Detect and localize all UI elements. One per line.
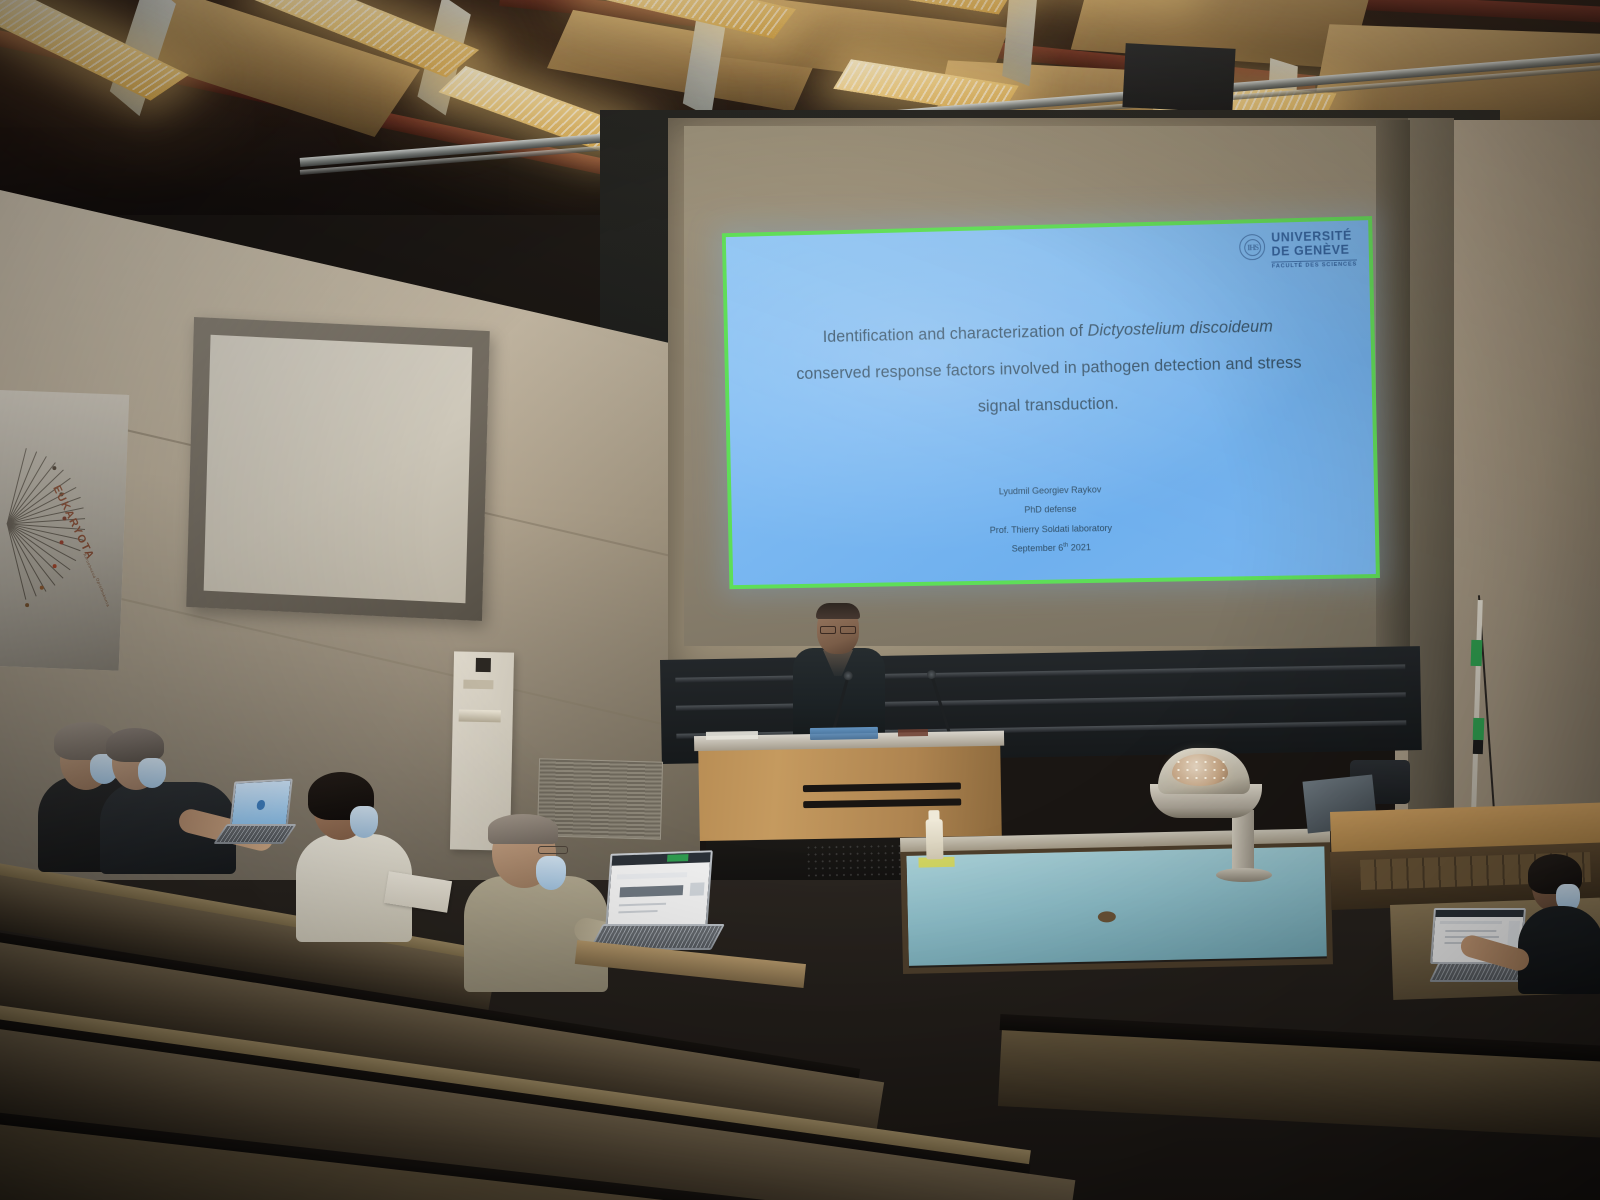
framed-notice-board	[186, 317, 490, 621]
slide-title: Identification and characterization of D…	[760, 307, 1338, 430]
slide-date-suffix: 2021	[1068, 542, 1091, 552]
screen-edge	[1376, 120, 1410, 678]
face-mask	[138, 758, 166, 788]
slide-canvas: UNIVERSITÉ DE GENÈVE FACULTÉ DES SCIENCE…	[726, 220, 1376, 585]
lecture-hall-photo: UNIVERSITÉ DE GENÈVE FACULTÉ DES SCIENCE…	[0, 0, 1600, 1200]
face-mask	[536, 856, 566, 890]
face-mask	[350, 806, 378, 838]
pole-green-marker-lower	[1473, 718, 1485, 740]
laptop-keyboard[interactable]	[213, 824, 296, 844]
slide-date-prefix: September 6	[1012, 543, 1064, 554]
unige-seal-icon	[1239, 234, 1265, 261]
unige-line2: DE GENÈVE	[1271, 243, 1349, 258]
notice-board-surface	[204, 335, 473, 603]
ceiling-projector	[1122, 43, 1235, 113]
glasses-icon	[538, 846, 568, 854]
glasses-icon	[820, 626, 856, 632]
pole-black-marker	[1473, 740, 1483, 754]
wall-column	[1408, 118, 1454, 908]
slide-title-species: Dictyostelium discoideum	[1087, 317, 1273, 339]
unige-faculty: FACULTÉ DES SCIENCES	[1272, 261, 1357, 269]
phylogenetic-tree-poster: EUKARYOTA Amoebozoa Opisthokonta	[0, 389, 129, 670]
speaker-person	[793, 604, 885, 746]
unige-logo: UNIVERSITÉ DE GENÈVE FACULTÉ DES SCIENCE…	[1239, 229, 1357, 270]
laptop-lid	[605, 850, 713, 930]
slide-subtitle: Lyudmil Georgiev Raykov PhD defense Prof…	[731, 475, 1375, 564]
slide-title-line3: signal transduction.	[978, 394, 1119, 415]
laptop-lid	[229, 779, 292, 830]
hand-sanitizer-bottle	[926, 819, 944, 859]
lectern-laptop	[810, 727, 878, 740]
laptop-screen	[607, 852, 710, 927]
laptop-screen	[231, 781, 290, 828]
slide-title-line1a: Identification and characterization of	[823, 322, 1088, 346]
presentation-slide: UNIVERSITÉ DE GENÈVE FACULTÉ DES SCIENCE…	[722, 216, 1380, 589]
slide-border: UNIVERSITÉ DE GENÈVE FACULTÉ DES SCIENCE…	[722, 216, 1380, 589]
overhead-projector[interactable]	[1140, 748, 1300, 878]
slide-title-line2: conserved response factors involved in p…	[796, 354, 1302, 383]
pole-green-marker-upper	[1471, 640, 1483, 666]
